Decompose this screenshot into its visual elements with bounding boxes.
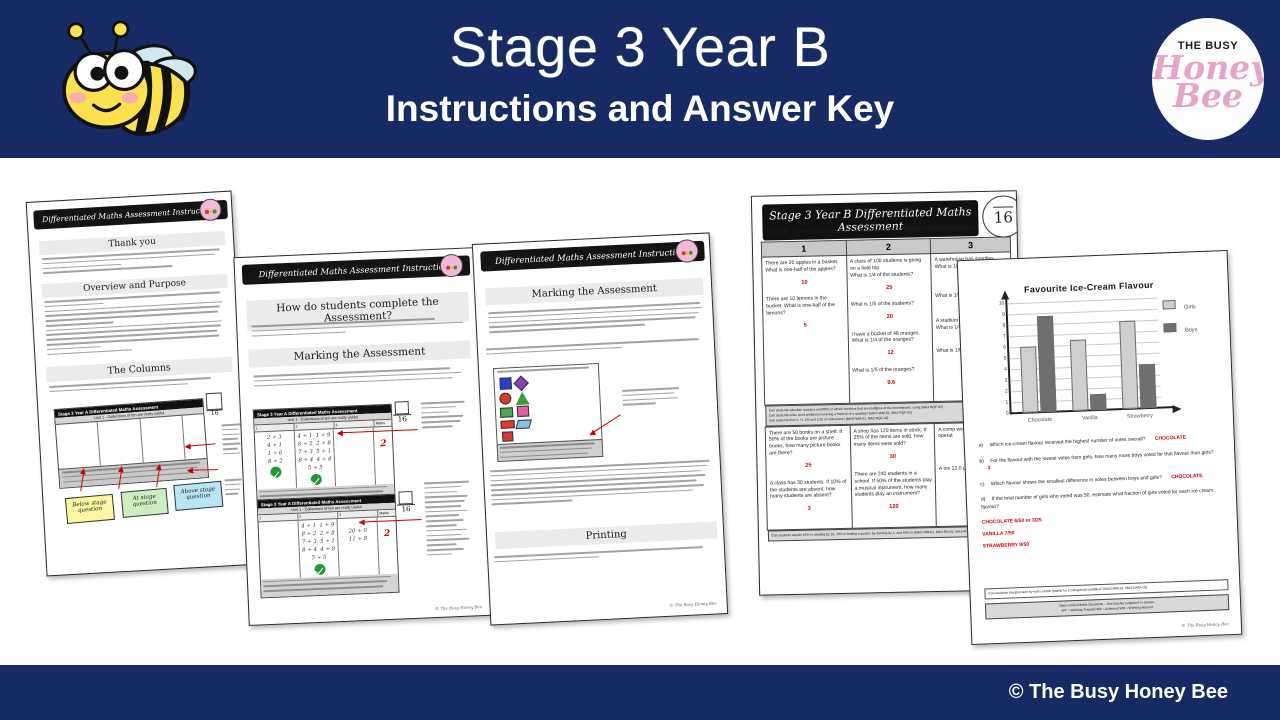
sheet2-mark-2: 16 — [397, 504, 415, 514]
shape-parallelogram-blue — [515, 419, 531, 429]
bar-boys-vanilla — [1090, 393, 1107, 410]
question-text: A shop has 120 items in stock. If 25% of… — [853, 427, 926, 448]
page-title: Stage 3 Year B — [300, 18, 980, 77]
sheet2-heading-1: Marking the Assessment — [248, 340, 471, 367]
question-id: b) — [979, 458, 984, 464]
sheet2-note-1 — [421, 400, 472, 431]
sheet1-mark-value: 16 — [207, 408, 223, 417]
y-tick-label: 8 — [1002, 323, 1005, 329]
example-col-1: 2 ÷ 34 ÷ 11 ÷ 68 ÷ 2 — [255, 431, 297, 489]
legend-label-boys: Boys — [1185, 327, 1198, 333]
answer-a: CHOCOLATE — [1155, 435, 1187, 442]
cell-r2c1: There are 50 books on a shelf. If 50% of… — [765, 425, 852, 530]
chart-questions: a) Which ice-cream flavour received the … — [979, 433, 1229, 549]
question-b: b) For the flavour with the lowest votes… — [979, 449, 1225, 473]
header-banner: Stage 3 Year B Instructions and Answer K… — [0, 0, 1280, 158]
y-tick-label: 3 — [1004, 377, 1007, 383]
shape-rect-green — [500, 407, 513, 418]
legend-label-girls: Girls — [1184, 304, 1196, 310]
y-tick-label: 4 — [1004, 366, 1007, 372]
question-text: There are 50 books on a shelf. If 50% of… — [769, 429, 842, 457]
column-header-3: 3 — [931, 237, 1011, 254]
page-subtitle: Instructions and Answer Key — [300, 88, 980, 130]
callout-above-stage: Above stage question — [173, 481, 223, 511]
sheet2-body-1 — [253, 367, 467, 390]
question-sub: What is 1/5 of the students? — [851, 301, 914, 308]
gridline — [1007, 298, 1157, 305]
example-col-3: 20 ÷ 011 ÷ 8 — [338, 517, 380, 575]
question-text: A class of 100 students is going on a fi… — [850, 257, 921, 271]
answer: 25 — [769, 462, 847, 471]
shape-circle-red — [499, 392, 512, 405]
answer: 10 — [766, 279, 844, 288]
gridline — [1009, 331, 1159, 338]
cell-r1c1: There are 20 apples in a basket. What is… — [762, 255, 850, 405]
bee-mascot-icon — [52, 20, 202, 145]
y-tick-label: 0 — [1006, 410, 1009, 416]
chart-x-arrow-icon — [1172, 404, 1181, 412]
callout-label: Below stage question — [72, 499, 107, 514]
answer: 30 — [854, 453, 932, 462]
chart-y-arrow-icon — [1001, 290, 1009, 299]
x-tick-label: Chocolate — [1028, 417, 1052, 424]
instruction-sheet-2[interactable]: Differentiated Maths Assessment Instruct… — [233, 247, 491, 626]
answer: 12 — [852, 349, 930, 358]
y-tick-label: 1 — [1005, 399, 1008, 405]
question-text: There are 240 students in a school. If 5… — [854, 470, 932, 498]
bar-girls-vanilla — [1070, 339, 1089, 411]
y-tick-label: 5 — [1004, 356, 1007, 362]
sheet2-copyright: © The Busy Honey Bee — [435, 604, 482, 611]
cell-r2c2: A shop has 120 items in stock. If 25% of… — [850, 423, 937, 528]
bar-boys-chocolate — [1037, 316, 1057, 412]
example-col-1 — [259, 521, 301, 579]
example-col-2: 4 ÷ 1 1 ÷ 98 ÷ 2 2 ÷ 87 ÷ 3 5 ÷ 18 ÷ 4 4… — [298, 519, 340, 577]
answer: 25 — [850, 284, 928, 293]
sheet2-example-table-2: Stage 3 Year A Differentiated Maths Asse… — [257, 494, 400, 599]
mini-table-col — [140, 416, 185, 463]
sheet3-body-0b — [486, 338, 706, 358]
brand-logo[interactable]: THE BUSY Honey Bee — [1152, 18, 1264, 140]
answer: 3 — [770, 505, 848, 514]
answer-b: 3 — [988, 465, 991, 471]
chart-marking-key: Open-ended Maths Questions – Use teacher… — [985, 595, 1229, 620]
sheet2-mark-box-1 — [395, 401, 410, 415]
question-text: If the total number of girls who voted w… — [981, 488, 1213, 510]
y-tick-label: 7 — [1003, 334, 1006, 340]
mini-table-col — [183, 414, 207, 459]
chart-plot-area: 012345678910 ChocolateVanillaStrawberry — [1007, 298, 1161, 414]
example-score: 2 — [376, 439, 390, 450]
callout-at-stage: At stage question — [121, 488, 169, 518]
sheet3-body-1 — [494, 546, 712, 566]
question-a: a) Which ice-cream flavour received the … — [979, 433, 1225, 450]
y-tick-label: 2 — [1005, 388, 1008, 394]
sheet3-heading-0: Marking the Assessment — [485, 278, 704, 306]
question-sub: What is 1/5 of the oranges? — [852, 366, 914, 373]
shape-square-blue — [499, 377, 512, 390]
sheet1-header: Differentiated Maths Assessment Instruct… — [33, 200, 228, 230]
answer-d-strawberry: STRAWBERRY 9/50 — [983, 534, 1229, 549]
shape-flag-pink — [517, 405, 530, 417]
answer: 9.6 — [852, 379, 930, 388]
callout-label: At stage question — [132, 494, 157, 509]
callout-below-stage: Below stage question — [65, 494, 115, 524]
example-score: 2 — [380, 529, 394, 540]
bar-girls-strawberry — [1119, 321, 1138, 410]
sheet3-shapes-panel — [493, 363, 603, 448]
answer: 20 — [851, 313, 929, 322]
question-sub: What is 1/4 of the oranges? — [852, 337, 914, 344]
chart-legend: Girls Boys — [1162, 295, 1197, 337]
sheet2-mark-1: 16 — [393, 414, 411, 424]
logo-line-3: Bee — [1152, 76, 1264, 115]
example-col-3 — [334, 428, 376, 486]
question-text: Which ice-cream flavour received the hig… — [990, 436, 1146, 448]
sheet3-shapes-footer — [497, 439, 604, 462]
question-text: A class has 30 students. If 10% of the s… — [770, 479, 847, 500]
example-score-col: 2 — [378, 517, 398, 574]
question-id: d) — [981, 496, 986, 502]
correct-tick-icon — [314, 563, 325, 574]
sheet3-heading-1: Printing — [495, 521, 718, 549]
legend-swatch-boys — [1163, 323, 1176, 332]
bar-girls-chocolate — [1020, 346, 1039, 413]
sheet2-example-table-1: Stage 3 Year A Differentiated Maths Asse… — [253, 404, 396, 509]
correct-tick-icon — [270, 467, 281, 478]
question-id: a) — [979, 442, 984, 448]
footer-banner: © The Busy Honey Bee — [0, 665, 1280, 720]
mini-table-col — [98, 419, 143, 466]
question-c: c) Which flavour shows the smallest diff… — [980, 472, 1226, 489]
example-score-col: 2 — [374, 427, 394, 484]
shape-triangle-green — [515, 391, 530, 405]
sheet2-note-2 — [424, 480, 479, 559]
mini-table-col — [56, 422, 101, 469]
answer-c: CHOCOLATE — [1171, 473, 1203, 480]
x-tick-label: Vanilla — [1082, 415, 1098, 422]
footer-copyright: © The Busy Honey Bee — [1009, 681, 1228, 704]
chart-copyright: © The Busy Honey Bee — [1181, 621, 1228, 628]
question-text: Which flavour shows the smallest differe… — [991, 474, 1162, 487]
chart-answer-sheet[interactable]: Favourite Ice-Cream Flavour Girls Boys 0… — [957, 250, 1243, 645]
screenshot-root: Differentiated Maths Assessment Instruct… — [0, 0, 1280, 720]
shape-arrow-red — [500, 420, 514, 429]
gridline — [1008, 309, 1158, 316]
shape-lshape-red — [502, 431, 513, 442]
sheet3-note — [622, 387, 685, 409]
example-col-2: 4 ÷ 1 1 ÷ 98 ÷ 2 2 ÷ 87 ÷ 3 5 ÷ 18 ÷ 4 4… — [294, 429, 336, 487]
correct-tick-icon — [310, 473, 321, 484]
bar-boys-strawberry — [1139, 364, 1157, 409]
y-tick-label: 9 — [1002, 312, 1005, 318]
sheet2-header: Differentiated Maths Assessment Instruct… — [242, 255, 471, 285]
question-text: For the flavour with the lowest votes fr… — [990, 449, 1214, 464]
cell-r1c2: A class of 100 students is going on a fi… — [846, 254, 934, 404]
chart-gridlines — [1007, 298, 1157, 304]
y-tick-label: 10 — [999, 301, 1005, 307]
callout-label: Above stage question — [180, 486, 215, 501]
sheet3-body-tail — [490, 459, 716, 508]
answer: 120 — [855, 503, 933, 512]
chart-title: Favourite Ice-Cream Flavour — [989, 278, 1189, 296]
question-sub: What is 1/4 of the students? — [850, 271, 913, 278]
gridline — [1008, 320, 1158, 327]
legend-swatch-girls — [1162, 300, 1175, 309]
sheet3-header: Differentiated Maths Assessment Instruct… — [480, 241, 705, 272]
question-text: There are 20 apples in a basket. What is… — [765, 259, 838, 273]
question-id: c) — [980, 481, 984, 487]
sheet1-body-1 — [44, 291, 227, 358]
assessment-mark-value: 16 — [994, 206, 1014, 226]
shape-diamond-purple — [513, 376, 529, 392]
instruction-sheet-3[interactable]: Differentiated Maths Assessment Instruct… — [472, 232, 728, 625]
y-tick-label: 6 — [1003, 345, 1006, 351]
instruction-sheet-1[interactable]: Differentiated Maths Assessment Instruct… — [26, 191, 253, 577]
x-tick-label: Strawberry — [1127, 413, 1153, 420]
question-d: d) If the total number of girls who vote… — [981, 487, 1227, 511]
sheet3-copyright: © The Busy Honey Bee — [669, 601, 717, 608]
question-text: There are 10 lemons in the bucket. What … — [766, 296, 835, 317]
sheet3-body-0 — [488, 302, 705, 336]
answer: 5 — [767, 322, 845, 331]
sheet2-mark-box-2 — [398, 491, 413, 505]
